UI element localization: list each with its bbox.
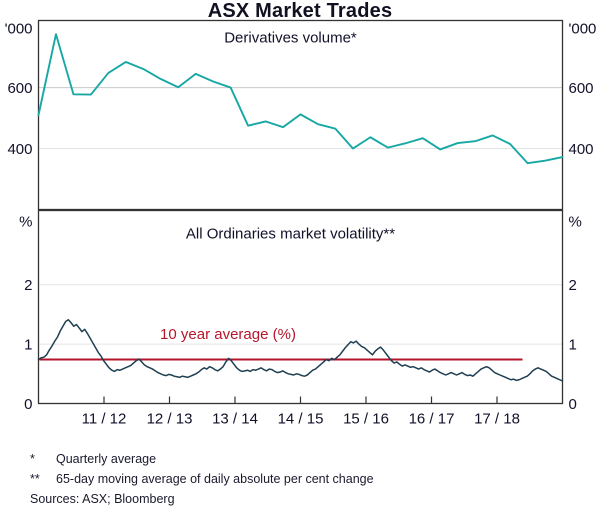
xtick-label-5: 15 / 16 [343,411,389,428]
ytick-left-volume-600: 600 [7,80,32,97]
unit-label-volatility-right: % [569,214,582,231]
ytick-left-volatility-2: 2 [24,277,32,294]
panel-title-volatility: All Ordinaries market volatility** [186,226,395,243]
ytick-left-volatility-1: 1 [24,337,32,354]
series-all-ordinaries-volatility [39,320,563,381]
xtick-label-4: 14 / 15 [278,411,324,428]
ytick-right-volatility-1: 1 [569,337,577,354]
annotation-10-year-average: 10 year average (%) [160,326,296,343]
xtick-label-7: 17 / 18 [474,411,520,428]
unit-label-volume-right: '000 [569,21,597,38]
xtick-label-2: 12 / 13 [147,411,193,428]
unit-label-volatility-left: % [19,214,32,231]
footnote-2-text: 65-day moving average of daily absolute … [56,472,374,486]
xtick-label-1: 11 / 12 [82,411,127,428]
panel-title-volume: Derivatives volume* [224,30,357,47]
ytick-right-volatility-2: 2 [569,277,577,294]
footnote-2-mark: ** [30,472,40,486]
ytick-right-volatility-0: 0 [569,396,577,413]
chart-root: ASX Market Trades 11 / 1212 / 1313 / 141… [0,0,600,512]
figure: 11 / 1212 / 1313 / 1414 / 1515 / 1616 / … [0,0,600,450]
ytick-left-volume-400: 400 [7,141,32,158]
footnote-1-text: Quarterly average [56,452,156,466]
ytick-right-volume-400: 400 [569,141,594,158]
footnote-1-mark: * [30,452,35,466]
series-derivatives-volume [39,34,563,163]
sources-note: Sources: ASX; Bloomberg [30,492,175,506]
ytick-right-volume-600: 600 [569,80,594,97]
xtick-label-3: 13 / 14 [212,411,258,428]
ytick-left-volatility-0: 0 [24,396,32,413]
unit-label-volume-left: '000 [5,21,33,38]
xtick-label-6: 16 / 17 [409,411,455,428]
